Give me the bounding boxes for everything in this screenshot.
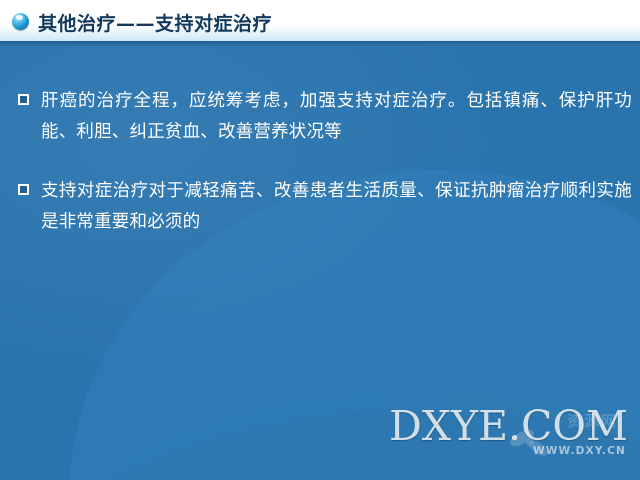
list-item: 支持对症治疗对于减轻痛苦、改善患者生活质量、保证抗肿瘤治疗顺利实施是非常重要和必… (18, 176, 632, 238)
bullet-text: 支持对症治疗对于减轻痛苦、改善患者生活质量、保证抗肿瘤治疗顺利实施是非常重要和必… (41, 176, 632, 238)
page-title: 其他治疗——支持对症治疗 (38, 9, 272, 36)
list-item: 肝癌的治疗全程，应统筹考虑，加强支持对症治疗。包括镇痛、保护肝功能、利胆、纠正贫… (18, 86, 632, 148)
watermark-main-text: DXYE.COM (389, 404, 628, 448)
watermark-sub-text: WWW.DXY.CN (533, 445, 626, 457)
bullet-text: 肝癌的治疗全程，应统筹考虑，加强支持对症治疗。包括镇痛、保护肝功能、利胆、纠正贫… (41, 86, 632, 148)
watermark: 资源网 DXYE.COM WWW.DXY.CN (382, 404, 632, 466)
slide-canvas: 其他治疗——支持对症治疗 肝癌的治疗全程，应统筹考虑，加强支持对症治疗。包括镇痛… (0, 0, 640, 480)
hollow-square-bullet-icon (18, 184, 29, 195)
blue-sphere-icon (12, 13, 29, 30)
hollow-square-bullet-icon (18, 94, 29, 105)
